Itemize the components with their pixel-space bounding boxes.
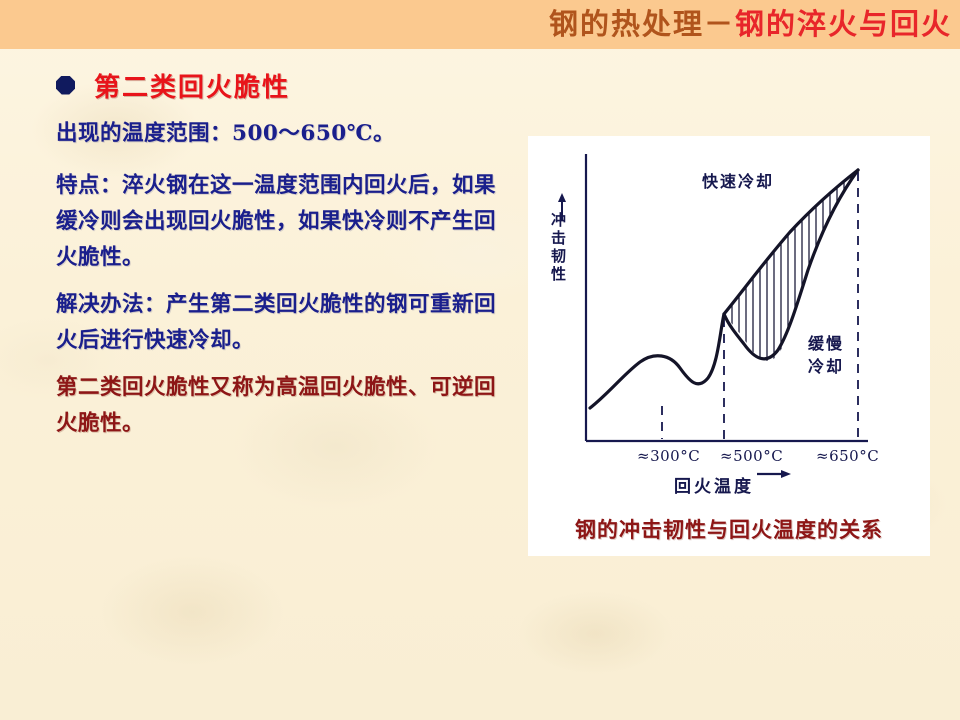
header-band: 钢的热处理－钢的淬火与回火 — [0, 0, 960, 49]
x-tick-650c: ≈650°C — [816, 447, 879, 465]
page-title: 钢的热处理－钢的淬火与回火 — [549, 5, 952, 43]
x-tick-300c: ≈300°C — [637, 447, 700, 465]
paragraph-characteristics: 特点：淬火钢在这一温度范围内回火后，如果缓冷则会出现回火脆性，如果快冷则不产生回… — [56, 168, 516, 276]
annotation-slow-cooling: 缓慢 冷却 — [808, 332, 844, 378]
y-axis-label: 冲击韧性 — [548, 212, 569, 284]
slide-canvas: 钢的热处理－钢的淬火与回火 第二类回火脆性 出现的温度范围：500～650℃。 … — [0, 0, 960, 720]
annotation-rapid-cooling: 快速冷却 — [702, 168, 774, 192]
paragraph-temp-range: 出现的温度范围：500～650℃。 — [56, 116, 516, 152]
x-tick-500c: ≈500°C — [720, 447, 783, 465]
page-title-part-b: 钢的淬火与回火 — [735, 7, 952, 41]
section-heading-label: 第二类回火脆性 — [94, 67, 290, 104]
content-left-column: 第二类回火脆性 出现的温度范围：500～650℃。 特点：淬火钢在这一温度范围内… — [56, 68, 516, 452]
annotation-slow-cooling-line2: 冷却 — [808, 355, 844, 378]
octagon-bullet-icon — [56, 76, 75, 95]
page-title-part-a: 钢的热处理－ — [549, 7, 735, 41]
paragraph-alias: 第二类回火脆性又称为高温回火脆性、可逆回火脆性。 — [56, 370, 516, 442]
hatched-region — [718, 164, 868, 364]
x-axis-arrow-icon — [756, 466, 792, 485]
chart-plot-area: 快速冷却 缓慢 冷却 冲击韧性 ≈300°C ≈500°C ≈650°C 回火温… — [528, 136, 930, 504]
figure-panel: 快速冷却 缓慢 冷却 冲击韧性 ≈300°C ≈500°C ≈650°C 回火温… — [528, 136, 930, 556]
annotation-slow-cooling-line1: 缓慢 — [808, 332, 844, 355]
x-axis-label: 回火温度 — [674, 472, 754, 497]
figure-caption: 钢的冲击韧性与回火温度的关系 — [528, 514, 930, 544]
section-heading: 第二类回火脆性 — [56, 68, 516, 102]
paragraph-solution: 解决办法：产生第二类回火脆性的钢可重新回火后进行快速冷却。 — [56, 287, 516, 359]
